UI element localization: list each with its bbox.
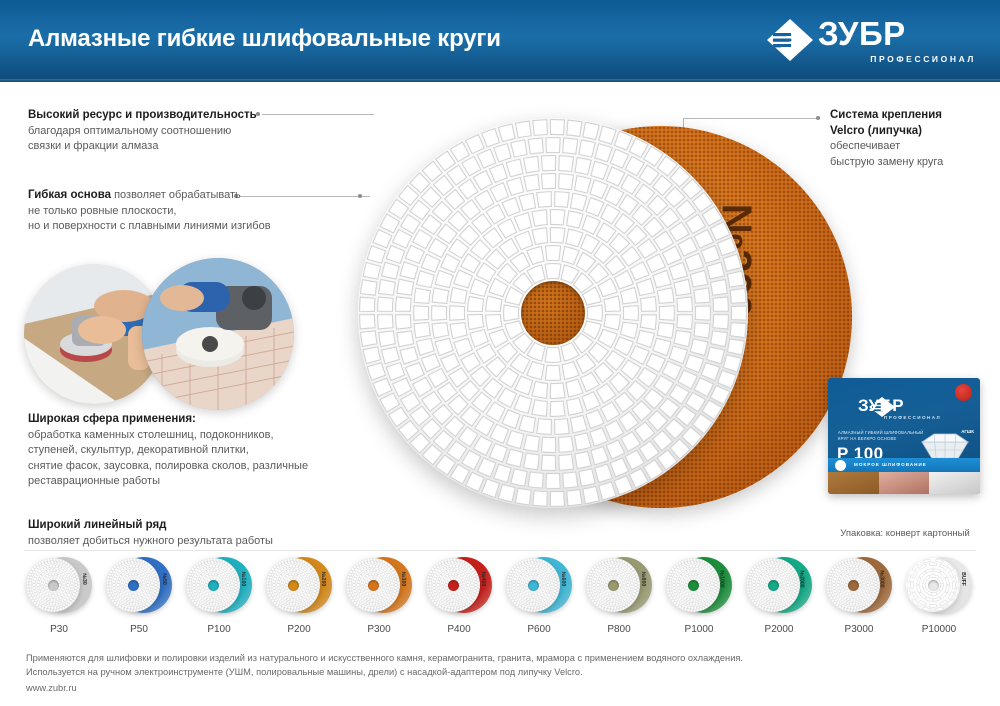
package-brand-subtitle: ПРОФЕССИОНАЛ — [884, 415, 941, 420]
page-title: Алмазные гибкие шлифовальные круги — [28, 25, 501, 53]
lineup-disc-name: P800 — [582, 624, 656, 635]
lineup-disc-center-hole — [768, 580, 779, 591]
lineup-disc-center-hole — [688, 580, 699, 591]
lineup-item-p200[interactable]: №200P200 — [262, 556, 336, 635]
hero-product-disc: №300 — [350, 118, 770, 518]
lineup-disc-name: P300 — [342, 624, 416, 635]
product-package: ЗУБР ПРОФЕССИОНАЛ АЛМАЗНЫЙ ГИБКИЙ ШЛИФОВ… — [828, 378, 980, 494]
lineup-disc-name: P400 — [422, 624, 496, 635]
lineup-disc-center-hole — [368, 580, 379, 591]
lineup-item-p50[interactable]: №50P50 — [102, 556, 176, 635]
callout-applications-line2: ступеней, скульптур, декоративной плитки… — [28, 444, 249, 456]
callout-high-resource-line1: благодаря оптимальному соотношению — [28, 125, 231, 137]
lineup-disc-face — [746, 558, 800, 612]
lineup-disc-center-hole — [48, 580, 59, 591]
lineup-disc-center-hole — [608, 580, 619, 591]
callout-wide-lineup-line1: позволяет добиться нужного результата ра… — [28, 535, 273, 547]
lineup-disc-grit-label: №200 — [320, 572, 326, 586]
package-brand-name: ЗУБР — [858, 396, 904, 416]
lineup-disc-name: P3000 — [822, 624, 896, 635]
lineup-disc-face — [26, 558, 80, 612]
zubr-diamond-arrow-icon — [766, 18, 814, 62]
lineup-disc-name: P2000 — [742, 624, 816, 635]
lineup-disc-grit-label: №600 — [560, 572, 566, 586]
package-material-photos — [828, 472, 980, 494]
lineup-disc-face — [826, 558, 880, 612]
lineup-disc-name: P100 — [182, 624, 256, 635]
lineup-disc-grit-label: №800 — [640, 572, 646, 586]
lineup-item-p300[interactable]: №300P300 — [342, 556, 416, 635]
hero-disc-face — [358, 118, 748, 508]
callout-applications: Широкая сфера применения: обработка каме… — [28, 412, 328, 490]
package-quality-seal-icon — [955, 384, 972, 401]
footer-line1: Применяются для шлифовки и полировки изд… — [26, 652, 926, 666]
lineup-disc-graphic: №1000 — [666, 556, 732, 618]
lineup-disc-graphic: №200 — [266, 556, 332, 618]
hero-center-hole — [521, 281, 585, 345]
lineup-disc-center-hole — [448, 580, 459, 591]
lineup-disc-name: P50 — [102, 624, 176, 635]
lineup-disc-graphic: №300 — [346, 556, 412, 618]
lineup-disc-face — [106, 558, 160, 612]
brand-name: ЗУБР — [818, 14, 906, 54]
lineup-disc-center-hole — [928, 580, 939, 591]
callout-flexible-base-title: Гибкая основа — [28, 189, 111, 201]
lineup-disc-graphic: №600 — [506, 556, 572, 618]
package-strip-text: МОКРОЕ ШЛИФОВАНИЕ — [854, 462, 927, 467]
lineup-item-p2000[interactable]: №2000P2000 — [742, 556, 816, 635]
callout-velcro-line2: быструю замену круга — [830, 156, 943, 168]
callout-applications-line4: реставрационные работы — [28, 475, 160, 487]
application-photos — [24, 258, 314, 403]
callout-applications-title: Широкая сфера применения: — [28, 412, 328, 428]
callout-high-resource: Высокий ресурс и производительность благ… — [28, 108, 268, 155]
lineup-disc-face — [906, 558, 960, 612]
lineup-disc-graphic: №2000 — [746, 556, 812, 618]
water-drop-icon — [835, 460, 846, 471]
footer-url[interactable]: www.zubr.ru — [26, 682, 926, 696]
lineup-disc-face — [586, 558, 640, 612]
lineup-disc-center-hole — [528, 580, 539, 591]
lineup-disc-grit-label: BUFF — [960, 572, 966, 586]
callout-high-resource-line2: связки и фракции алмаза — [28, 140, 158, 152]
callout-velcro-title2: Velcro (липучка) — [830, 124, 995, 140]
lineup-disc-face — [346, 558, 400, 612]
lineup-disc-graphic: №3000 — [826, 556, 892, 618]
material-photo-granite — [879, 472, 930, 494]
product-infographic-page: Алмазные гибкие шлифовальные круги ЗУБР … — [0, 0, 1000, 706]
lineup-item-p1000[interactable]: №1000P1000 — [662, 556, 736, 635]
callout-wide-lineup-title: Широкий линейный ряд — [28, 518, 358, 534]
lineup-disc-grit-label: №100 — [240, 572, 246, 586]
callout-flexible-base-line2: но и поверхности с плавными линиями изги… — [28, 220, 271, 232]
lineup-disc-face — [266, 558, 320, 612]
brand-subtitle: ПРОФЕССИОНАЛ — [870, 54, 976, 64]
callout-flexible-base-title-rest: позволяет обрабатывать — [111, 189, 241, 201]
lineup-disc-graphic: №800 — [586, 556, 652, 618]
lineup-disc-grit-label: №30 — [81, 573, 87, 585]
polisher-on-tile-photo — [142, 258, 294, 410]
lineup-item-p400[interactable]: №400P400 — [422, 556, 496, 635]
lineup-disc-name: P600 — [502, 624, 576, 635]
lineup-item-p100[interactable]: №100P100 — [182, 556, 256, 635]
lineup-item-p3000[interactable]: №3000P3000 — [822, 556, 896, 635]
leader-line-resource — [262, 114, 374, 115]
lineup-disc-graphic: №50 — [106, 556, 172, 618]
lineup-item-p600[interactable]: №600P600 — [502, 556, 576, 635]
callout-wide-lineup: Широкий линейный ряд позволяет добиться … — [28, 518, 358, 549]
package-caption: Упаковка: конверт картонный — [812, 528, 998, 539]
lineup-disc-name: P1000 — [662, 624, 736, 635]
callout-velcro-title1: Система крепления — [830, 108, 995, 124]
lineup-disc-center-hole — [208, 580, 219, 591]
lineup-disc-name: P200 — [262, 624, 336, 635]
lineup-disc-face — [506, 558, 560, 612]
callout-velcro-mount: Система крепления Velcro (липучка) обесп… — [830, 108, 995, 170]
material-photo-wood — [828, 472, 879, 494]
leader-dot-velcro — [816, 116, 820, 120]
lineup-disc-center-hole — [288, 580, 299, 591]
lineup-divider — [24, 550, 976, 551]
brand-logo: ЗУБР ПРОФЕССИОНАЛ — [758, 14, 978, 70]
page-header: Алмазные гибкие шлифовальные круги ЗУБР … — [0, 0, 1000, 82]
lineup-disc-graphic: №100 — [186, 556, 252, 618]
callout-applications-line1: обработка каменных столешниц, подоконник… — [28, 429, 274, 441]
callout-flexible-base-line1: не только ровные плоскости, — [28, 205, 176, 217]
callout-applications-line3: снятие фасок, заусовка, полировка сколов… — [28, 460, 308, 472]
lineup-disc-graphic: №30 — [26, 556, 92, 618]
lineup-item-p800[interactable]: №800P800 — [582, 556, 656, 635]
material-photo-marble — [929, 472, 980, 494]
footer-line2: Используется на ручном электроинструмент… — [26, 666, 926, 680]
lineup-disc-row: №30P30№50P50№100P100№200P200№300P300№400… — [22, 556, 982, 632]
callout-flexible-base: Гибкая основа позволяет обрабатывать не … — [28, 188, 293, 235]
lineup-disc-name: P10000 — [902, 624, 976, 635]
lineup-disc-name: P30 — [22, 624, 96, 635]
footer-note: Применяются для шлифовки и полировки изд… — [26, 652, 926, 696]
callout-velcro-line1: обеспечивает — [830, 140, 900, 152]
lineup-disc-face — [666, 558, 720, 612]
lineup-disc-grit-label: №300 — [400, 572, 406, 586]
lineup-disc-face — [186, 558, 240, 612]
lineup-disc-face — [426, 558, 480, 612]
lineup-disc-graphic: BUFF — [906, 556, 972, 618]
callout-high-resource-title: Высокий ресурс и производительность — [28, 108, 268, 124]
lineup-disc-center-hole — [128, 580, 139, 591]
lineup-disc-grit-label: №400 — [480, 572, 486, 586]
package-wet-grinding-strip: МОКРОЕ ШЛИФОВАНИЕ — [828, 458, 980, 472]
lineup-item-p30[interactable]: №30P30 — [22, 556, 96, 635]
lineup-item-p10000[interactable]: BUFFP10000 — [902, 556, 976, 635]
lineup-disc-grit-label: №50 — [161, 573, 167, 585]
lineup-disc-center-hole — [848, 580, 859, 591]
lineup-disc-graphic: №400 — [426, 556, 492, 618]
